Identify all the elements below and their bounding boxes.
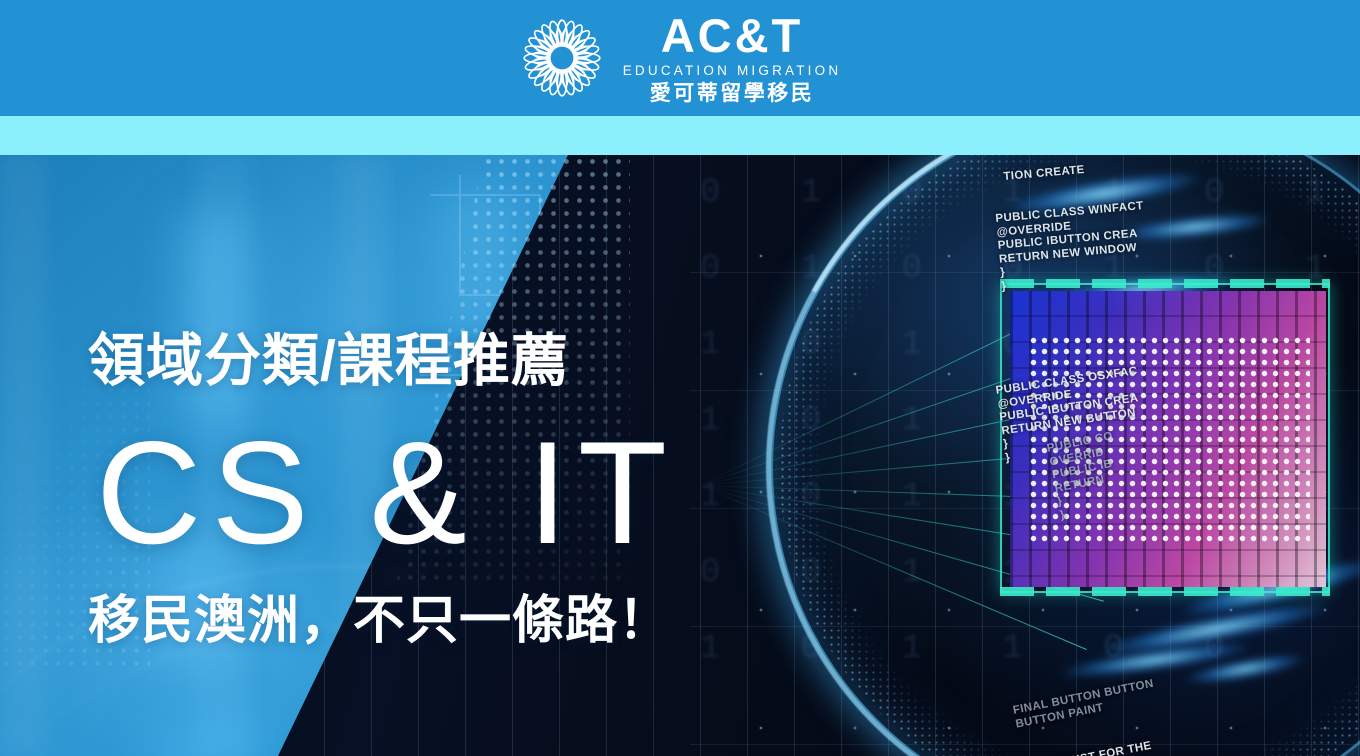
brand-name: AC&T — [661, 12, 804, 59]
brand-text-block: AC&T EDUCATION MIGRATION 愛可蒂留學移民 — [623, 12, 842, 104]
hero-kicker: 領域分類/課程推薦 — [88, 333, 569, 390]
sunflower-mandala-logo-icon — [519, 15, 605, 101]
chip-bottom-contacts — [1000, 587, 1330, 596]
banner-root: AC&T EDUCATION MIGRATION 愛可蒂留學移民 0 1 0 1… — [0, 0, 1360, 756]
site-header: AC&T EDUCATION MIGRATION 愛可蒂留學移民 — [0, 0, 1360, 116]
code-block-top: PUBLIC CLASS WINFACT @OVERRIDE PUBLIC IB… — [995, 200, 1150, 294]
hero-section: 0 1 0 1 1 0 1 0 1 0 0 1 0 1 1 0 1 0 1 0 … — [0, 155, 1360, 756]
brand-tagline: EDUCATION MIGRATION — [623, 64, 842, 78]
brand-chinese-name: 愛可蒂留學移民 — [650, 83, 815, 104]
brand-lockup[interactable]: AC&T EDUCATION MIGRATION 愛可蒂留學移民 — [519, 12, 842, 104]
hero-title: CS & IT — [96, 420, 677, 566]
hero-subtitle: 移民澳洲，不只一條路！ — [88, 595, 671, 647]
cyan-divider-band — [0, 116, 1360, 155]
